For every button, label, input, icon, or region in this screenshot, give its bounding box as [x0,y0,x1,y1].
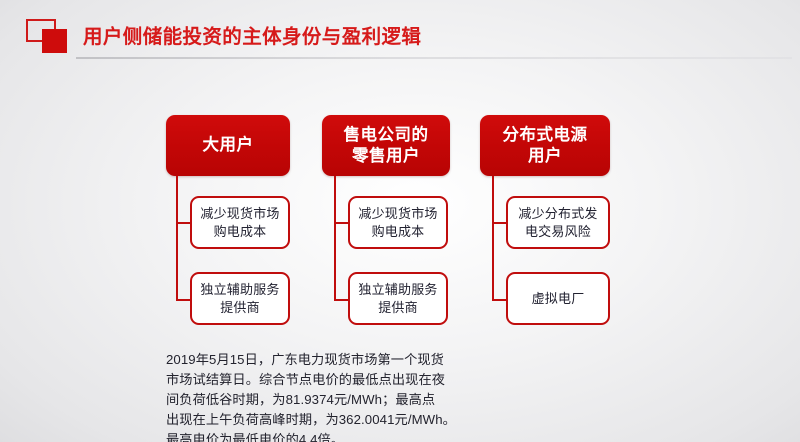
connector-branch-3-1 [492,222,506,224]
slide-canvas: 用户侧储能投资的主体身份与盈利逻辑 大用户 减少现货市场购电成本 独立辅助服务提… [0,0,800,442]
connector-branch-1-2 [176,299,190,301]
caption-text: 2019年5月15日，广东电力现货市场第一个现货 市场试结算日。综合节点电价的最… [166,350,526,442]
connector-branch-2-2 [334,299,348,301]
caption-line: 市场试结算日。综合节点电价的最低点出现在夜 [166,370,526,390]
leaf-box-3-2[interactable]: 虚拟电厂 [506,272,610,325]
caption-line: 间负荷低谷时期，为81.9374元/MWh；最高点 [166,390,526,410]
connector-branch-3-2 [492,299,506,301]
head-box-3[interactable]: 分布式电源用户 [480,115,610,176]
connector-stem-2 [334,176,336,300]
leaf-box-2-2[interactable]: 独立辅助服务提供商 [348,272,448,325]
head-box-1[interactable]: 大用户 [166,115,290,176]
connector-stem-3 [492,176,494,300]
connector-stem-1 [176,176,178,300]
head-box-2[interactable]: 售电公司的零售用户 [322,115,450,176]
leaf-box-3-1[interactable]: 减少分布式发电交易风险 [506,196,610,249]
leaf-box-1-2[interactable]: 独立辅助服务提供商 [190,272,290,325]
connector-branch-2-1 [334,222,348,224]
leaf-box-2-1[interactable]: 减少现货市场购电成本 [348,196,448,249]
leaf-box-1-1[interactable]: 减少现货市场购电成本 [190,196,290,249]
caption-line: 出现在上午负荷高峰时期，为362.0041元/MWh。 [166,410,526,430]
caption-line: 最高电价为最低电价的4.4倍。 [166,430,526,442]
caption-line: 2019年5月15日，广东电力现货市场第一个现货 [166,350,526,370]
connector-branch-1-1 [176,222,190,224]
